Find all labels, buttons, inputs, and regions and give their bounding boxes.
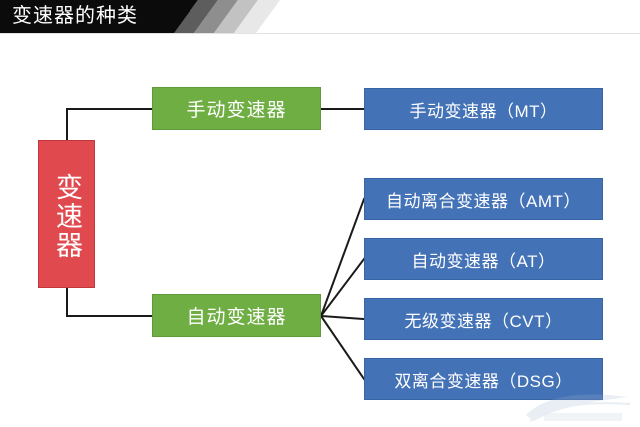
node-leaf-cvt[interactable]: 无级变速器（CVT）	[364, 298, 603, 340]
node-branch-auto[interactable]: 自动变速器	[152, 294, 321, 337]
node-leaf-at[interactable]: 自动变速器（AT）	[364, 238, 603, 280]
connector-root-to-auto	[67, 288, 152, 316]
connector-auto-to-amt	[321, 199, 364, 316]
header-banner: 变速器的种类	[0, 0, 640, 33]
node-root-transmission[interactable]: 变速器	[38, 140, 95, 288]
node-branch-manual[interactable]: 手动变速器	[152, 87, 321, 130]
connector-auto-to-at	[321, 259, 364, 316]
connector-root-to-manual	[67, 109, 152, 140]
node-leaf-mt[interactable]: 手动变速器（MT）	[364, 88, 603, 130]
connector-auto-to-cvt	[321, 316, 364, 319]
connector-auto-to-dsg	[321, 316, 364, 379]
node-leaf-dsg[interactable]: 双离合变速器（DSG）	[364, 358, 603, 400]
transmission-type-diagram: 变速器 手动变速器 自动变速器 手动变速器（MT） 自动离合变速器（AMT） 自…	[0, 33, 640, 427]
node-leaf-amt[interactable]: 自动离合变速器（AMT）	[364, 178, 603, 220]
page-title: 变速器的种类	[12, 3, 138, 30]
